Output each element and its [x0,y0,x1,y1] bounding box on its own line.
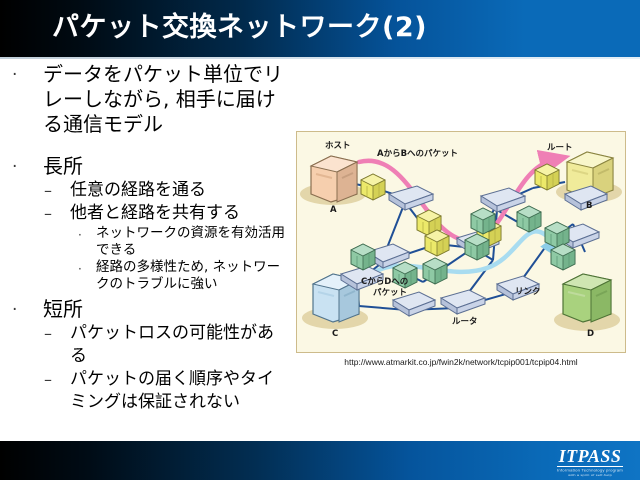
bullet-item-7: · 短所 [0,297,290,322]
diagram-label-host-d: D [587,329,594,339]
bullet-item-4: – 他者と経路を共有する [0,202,290,225]
diagram-label-packet-a-to-b: AからBへのパケット [377,148,458,159]
bullet-marker: · [78,259,92,280]
bullet-text: 任意の経路を通る [70,179,290,202]
packet-green [471,208,495,234]
bullet-text: 長所 [43,154,290,179]
itpass-wordmark: ITPASS [557,447,624,467]
packet-green [423,258,447,284]
page-title: パケット交換ネットワーク(2) [52,8,427,48]
bullet-marker: – [44,179,62,203]
bullet-item-2: · 長所 [0,154,290,179]
bullet-item-6: · 経路の多様性ため, ネットワークのトラブルに強い [0,259,290,293]
figure-source-caption: http://www.atmarkit.co.jp/fwin2k/network… [296,357,626,367]
network-diagram-frame: ホスト AからBへのパケット ルート CからDへの パケット リンク ルータ A… [296,131,626,353]
packet-yellow [425,230,449,256]
bullet-marker: · [12,62,28,88]
diagram-label-host-a: A [330,205,337,215]
bullet-marker: – [44,322,62,346]
itpass-logo-subtitle-1: Information Technology program [548,469,632,473]
network-diagram-figure: ホスト AからBへのパケット ルート CからDへの パケット リンク ルータ A… [296,131,626,353]
diagram-label-host-b: B [586,201,592,211]
bullet-marker: · [12,297,28,323]
bullet-item-1: · データをパケット単位でリレーしながら, 相手に届ける通信モデル [0,62,290,137]
bullet-text: 経路の多様性ため, ネットワークのトラブルに強い [96,259,290,293]
diagram-label-packet-c-to-d-line1: CからDへの [361,277,408,287]
spacer [0,137,290,154]
bullet-text: 他者と経路を共有する [70,202,290,225]
bullet-text: パケットの届く順序やタイミングは保証されない [70,368,290,414]
packet-green [465,234,489,260]
bullet-item-5: · ネットワークの資源を有効活用できる [0,225,290,259]
packet-yellow [361,174,385,200]
diagram-label-router: ルータ [452,316,478,327]
packet-yellow [535,164,559,190]
header-underline [0,57,640,59]
itpass-logo-subtitle-2: with a spirit of self-help [548,474,632,478]
diagram-label-packet-c-to-d-line2: パケット [373,287,407,298]
diagram-label-host-c: C [332,329,338,339]
slide-footer-bar [0,441,640,480]
bullet-marker: · [78,225,92,246]
slide-body: · データをパケット単位でリレーしながら, 相手に届ける通信モデル · 長所 –… [0,62,290,412]
bullet-text: 短所 [43,297,290,322]
packet-green [545,222,569,248]
bullet-marker: · [12,154,28,180]
packet-green [551,244,575,270]
host-a-node [311,156,357,202]
diagram-label-route: ルート [547,143,573,153]
bullet-text: パケットロスの可能性がある [70,322,290,368]
bullet-text: データをパケット単位でリレーしながら, 相手に届ける通信モデル [43,62,290,137]
network-diagram-svg: ホスト AからBへのパケット ルート CからDへの パケット リンク ルータ A… [297,132,625,352]
bullet-item-8: – パケットロスの可能性がある [0,322,290,368]
bullet-item-3: – 任意の経路を通る [0,179,290,202]
diagram-label-link: リンク [515,286,541,297]
bullet-text: ネットワークの資源を有効活用できる [96,225,290,259]
itpass-logo: ITPASS Information Technology program wi… [548,447,632,475]
bullet-item-9: – パケットの届く順序やタイミングは保証されない [0,368,290,414]
packet-green [351,244,375,270]
packet-green [517,206,541,232]
bullet-marker: – [44,202,62,226]
host-d-node [563,274,611,322]
diagram-label-host: ホスト [325,141,351,151]
bullet-marker: – [44,368,62,392]
